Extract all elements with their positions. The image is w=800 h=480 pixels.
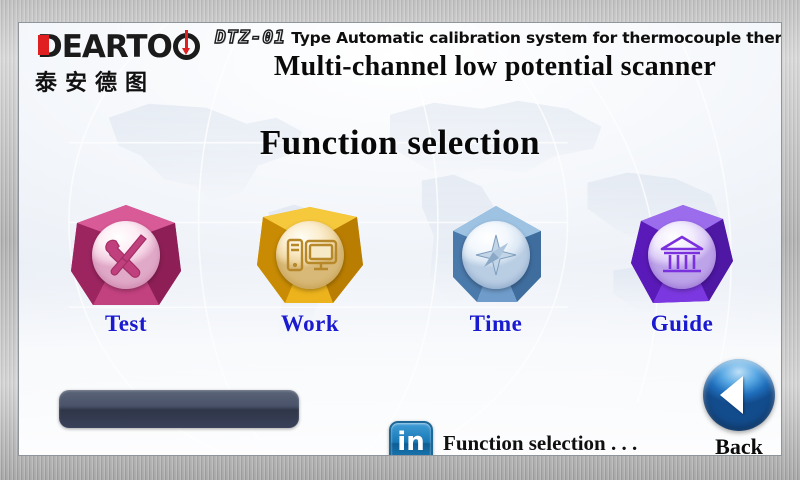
dearto-logo: DEARTO 泰安德图 bbox=[27, 29, 207, 101]
computer-icon bbox=[276, 221, 344, 289]
left-arrow-icon bbox=[703, 359, 775, 431]
tile-work-label: Work bbox=[235, 311, 385, 337]
device-screen: DEARTO 泰安德图 DTZ-01 Type Automatic calibr… bbox=[18, 22, 782, 456]
status-bar: in Function selection . . . bbox=[389, 421, 637, 456]
status-text: Function selection . . . bbox=[443, 431, 637, 456]
compass-icon bbox=[462, 221, 530, 289]
model-number: DTZ-01 bbox=[215, 27, 286, 48]
tile-time[interactable]: Time bbox=[421, 201, 571, 337]
tile-test-badge bbox=[67, 201, 185, 309]
logo-red-block-icon bbox=[38, 35, 49, 55]
tile-work[interactable]: Work bbox=[235, 201, 385, 337]
header-subtitle-line1: DTZ-01 Type Automatic calibration system… bbox=[215, 27, 775, 48]
wrench-screwdriver-icon bbox=[92, 221, 160, 289]
linkedin-in-icon[interactable]: in bbox=[389, 421, 433, 456]
message-readout-field[interactable] bbox=[59, 390, 299, 428]
tile-test-label: Test bbox=[51, 311, 201, 337]
page-title: Function selection bbox=[19, 123, 781, 163]
back-button[interactable]: Back bbox=[691, 359, 782, 456]
tile-time-label: Time bbox=[421, 311, 571, 337]
tile-guide-label: Guide bbox=[607, 311, 757, 337]
header-titles: DTZ-01 Type Automatic calibration system… bbox=[215, 27, 775, 83]
back-button-label: Back bbox=[691, 434, 782, 456]
header-subtitle-text: Type Automatic calibration system for th… bbox=[291, 29, 782, 47]
tile-guide[interactable]: Guide bbox=[607, 201, 757, 337]
tile-guide-badge bbox=[623, 201, 741, 309]
logo-wordmark: DEARTO bbox=[37, 31, 172, 63]
function-tile-row: Test bbox=[19, 201, 781, 346]
bank-building-icon bbox=[648, 221, 716, 289]
logo-red-needle-icon bbox=[185, 30, 188, 52]
header-product-name: Multi-channel low potential scanner bbox=[215, 51, 775, 83]
tile-work-badge bbox=[251, 201, 369, 309]
logo-chinese-name: 泰安德图 bbox=[35, 65, 155, 97]
tile-time-badge bbox=[437, 201, 555, 309]
app-header: DEARTO 泰安德图 DTZ-01 Type Automatic calibr… bbox=[19, 23, 781, 101]
tile-test[interactable]: Test bbox=[51, 201, 201, 337]
